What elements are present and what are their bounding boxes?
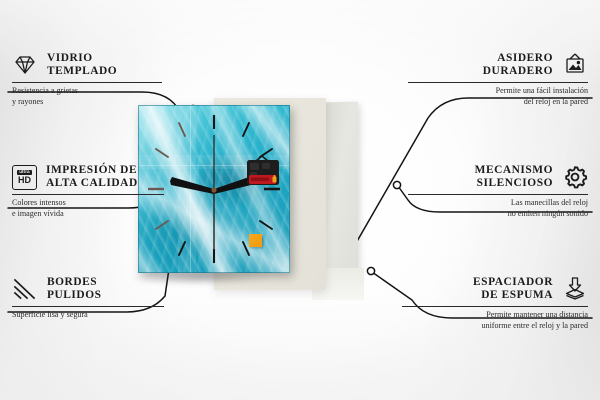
feature-description: Resistencia a grietas y rayones [12,86,162,106]
feature-title: BORDES PULIDOS [47,276,102,303]
hands-center-cap [211,187,216,192]
feature-title: IMPRESIÓN DE ALTA CALIDAD [46,164,138,191]
feature-title: MECANISMO SILENCIOSO [475,164,553,191]
feature-title: ASIDERO DURADERO [483,52,553,79]
diamond-icon [12,52,38,78]
infographic-canvas: VIDRIO TEMPLADO Resistencia a grietas y … [0,0,600,400]
ultra-hd-icon: ultra HD [12,165,37,190]
feature-title: VIDRIO TEMPLADO [47,52,117,79]
feature-divider [402,306,588,307]
hanging-frame-icon [562,52,588,78]
feature-description: Permite una fácil instalación del reloj … [408,86,588,106]
feature-divider [12,82,162,83]
feature-mecanismo-silencioso: MECANISMO SILENCIOSO Las manecillas del … [408,164,588,219]
diagonal-lines-icon [12,276,38,302]
connector-dot-espaciador [367,267,374,274]
hour-hand [170,177,214,194]
gear-icon [562,164,588,190]
feature-title: ESPACIADOR DE ESPUMA [473,276,553,303]
feature-description: Permite mantener una distancia uniforme … [402,310,588,330]
feature-divider [408,194,588,195]
foam-spacer [249,234,262,247]
feature-divider [12,194,164,195]
connector-dot-mecanismo [393,181,400,188]
wall-panel-back [322,102,358,279]
ultra-hd-icon-bottom-label: HD [18,176,31,185]
feature-vidrio-templado: VIDRIO TEMPLADO Resistencia a grietas y … [12,52,162,107]
feature-divider [12,306,164,307]
feature-bordes-pulidos: BORDES PULIDOS Superficie lisa y segura [12,276,164,321]
feature-description: Las manecillas del reloj no emiten ningú… [408,198,588,218]
feature-divider [408,82,588,83]
battery-positive-terminal [273,177,277,183]
feature-espaciador-espuma: ESPACIADOR DE ESPUMA Permite mantener un… [402,276,588,331]
clock-mechanism [243,154,283,188]
feature-asidero-duradero: ASIDERO DURADERO Permite una fácil insta… [408,52,588,107]
feature-description: Superficie lisa y segura [12,310,164,320]
feature-impresion-alta-calidad: ultra HD IMPRESIÓN DE ALTA CALIDAD Color… [12,164,164,219]
feature-description: Colores intensos e imagen vívida [12,198,164,218]
arrow-down-pad-icon [562,276,588,302]
